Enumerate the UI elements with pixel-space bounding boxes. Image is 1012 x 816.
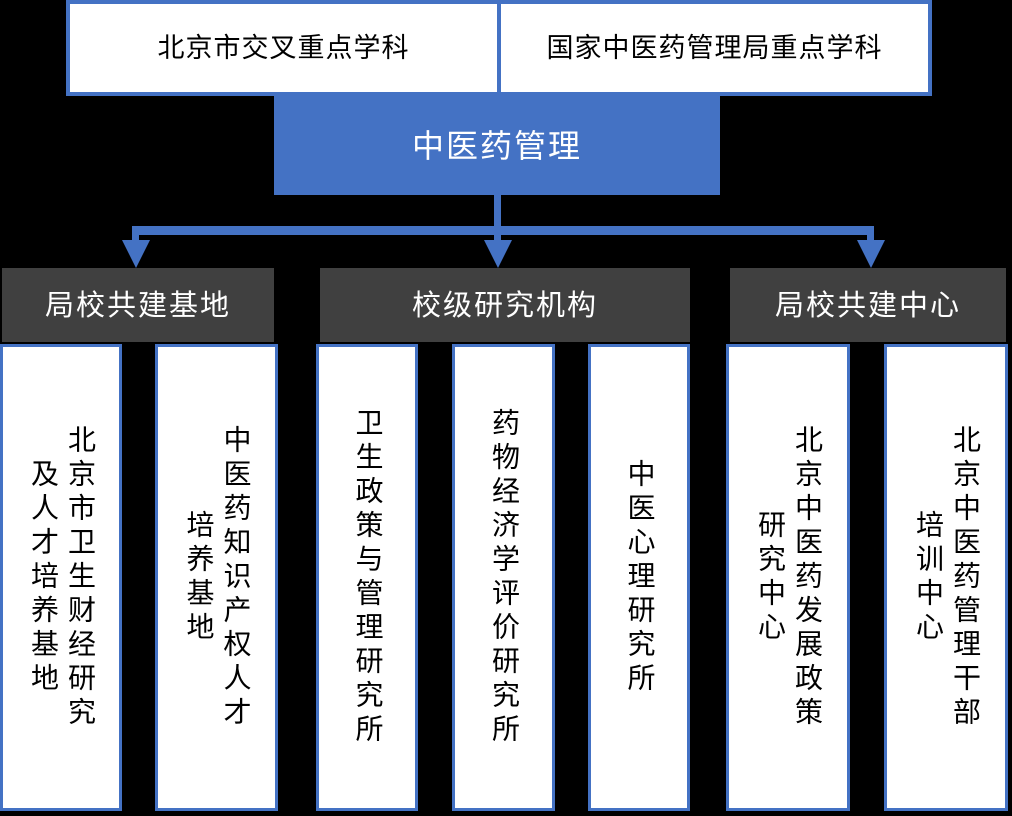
top-box-beijing-interdisciplinary-key-discipline[interactable]: 北京市交叉重点学科 bbox=[70, 4, 497, 92]
leaf-text-line: 北京中医药发展政策 bbox=[788, 425, 825, 731]
top-box-national-tcm-administration-key-discipline[interactable]: 国家中医药管理局重点学科 bbox=[501, 4, 928, 92]
connector-horizontal-bar bbox=[132, 226, 874, 235]
top-disciplines-group: 北京市交叉重点学科 国家中医药管理局重点学科 bbox=[66, 0, 932, 96]
arrow-down-icon-right bbox=[857, 240, 885, 268]
section-header-bureau-school-joint-center[interactable]: 局校共建中心 bbox=[730, 268, 1006, 342]
leaf-text-line: 培养基地 bbox=[180, 510, 217, 646]
leaf-text-line: 及人才培养基地 bbox=[24, 459, 61, 697]
arrow-down-icon-left bbox=[122, 240, 150, 268]
leaf-box-tcm-ip-talent-base[interactable]: 中医药知识产权人才 培养基地 bbox=[155, 344, 278, 811]
leaf-text-line: 研究中心 bbox=[751, 510, 788, 646]
center-title-box[interactable]: 中医药管理 bbox=[274, 96, 720, 195]
leaf-text-line: 北京中医药管理干部 bbox=[946, 425, 983, 731]
leaf-box-health-finance-research-base[interactable]: 北京市卫生财经研究 及人才培养基地 bbox=[0, 344, 122, 811]
leaf-text-line: 培训中心 bbox=[909, 510, 946, 646]
connector-vertical-stem bbox=[494, 195, 501, 230]
section-header-bureau-school-joint-base[interactable]: 局校共建基地 bbox=[2, 268, 274, 342]
arrow-down-icon-center bbox=[484, 240, 512, 268]
leaf-box-tcm-management-cadre-training-center[interactable]: 北京中医药管理干部 培训中心 bbox=[884, 344, 1008, 811]
leaf-text-line: 中医心理研究所 bbox=[621, 459, 658, 697]
leaf-text-line: 药物经济学评价研究所 bbox=[485, 408, 522, 748]
leaf-box-pharmacoeconomics-evaluation-institute[interactable]: 药物经济学评价研究所 bbox=[452, 344, 555, 811]
leaf-text-line: 卫生政策与管理研究所 bbox=[349, 408, 386, 748]
leaf-box-health-policy-management-institute[interactable]: 卫生政策与管理研究所 bbox=[316, 344, 418, 811]
section-header-university-level-research-institutions[interactable]: 校级研究机构 bbox=[320, 268, 690, 342]
leaf-box-tcm-psychology-institute[interactable]: 中医心理研究所 bbox=[588, 344, 690, 811]
leaf-box-tcm-development-policy-research-center[interactable]: 北京中医药发展政策 研究中心 bbox=[726, 344, 850, 811]
leaf-text-line: 中医药知识产权人才 bbox=[217, 425, 254, 731]
leaf-text-line: 北京市卫生财经研究 bbox=[61, 425, 98, 731]
